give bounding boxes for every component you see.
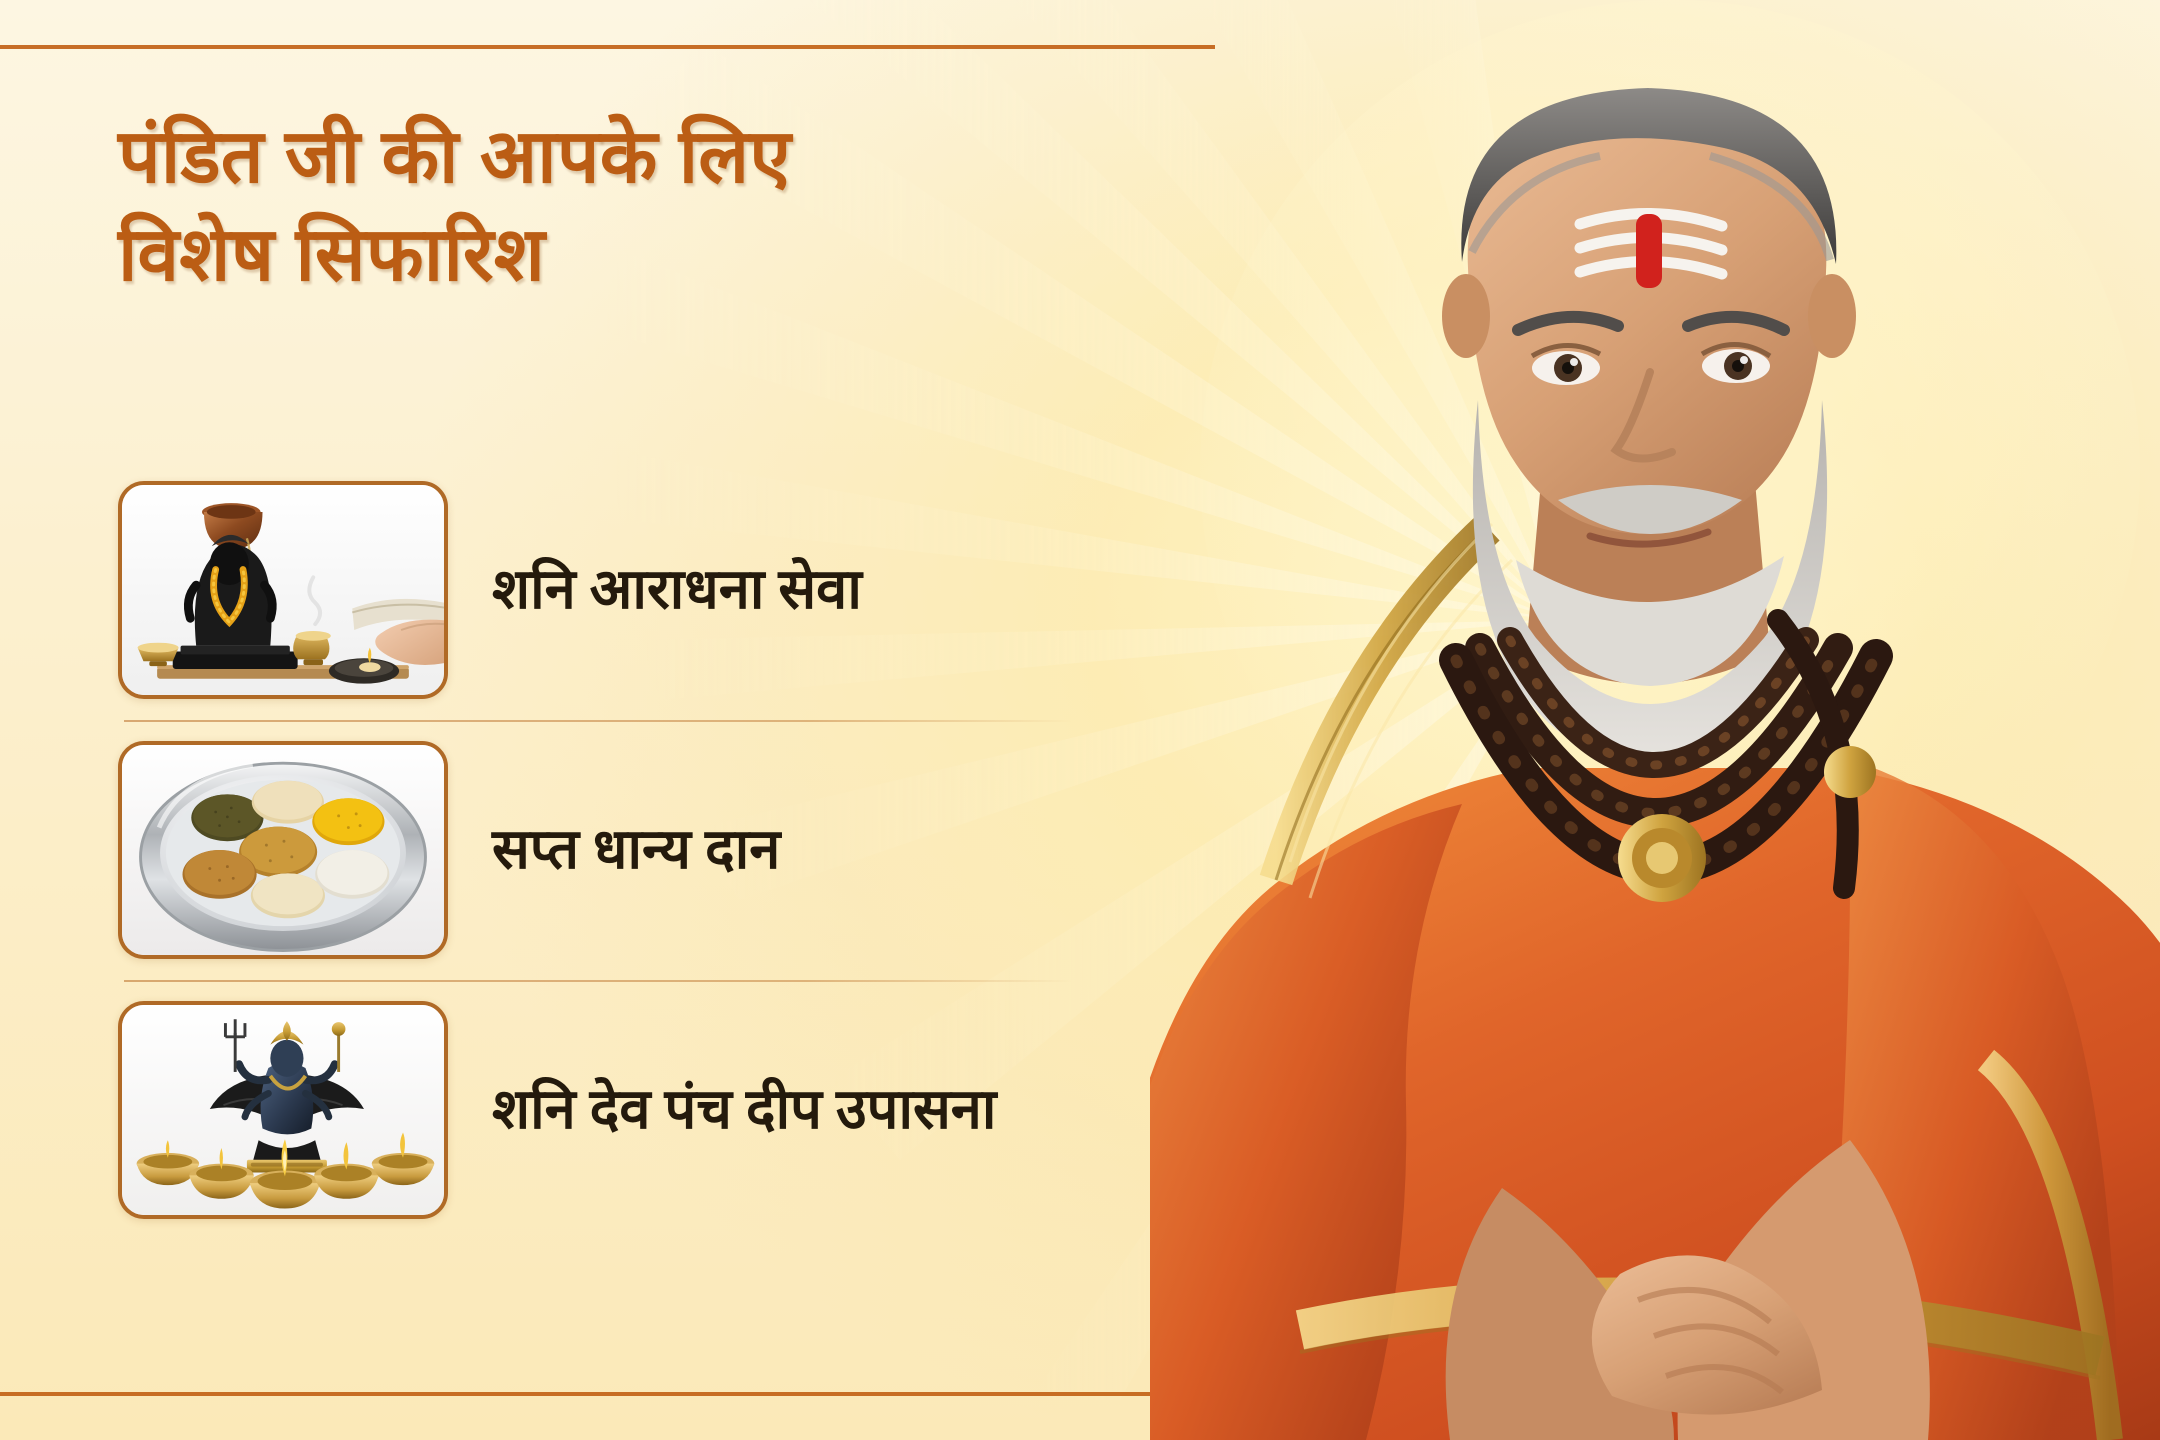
list-item[interactable]: शनि देव पंच दीप उपासना [118, 980, 1193, 1240]
page-title-line-2: विशेष सिफारिश [118, 206, 1178, 304]
list-item[interactable]: शनि आराधना सेवा [118, 460, 1193, 720]
shani-abhishek-photo [118, 481, 448, 699]
page-title: पंडित जी की आपके लिए विशेष सिफारिश [118, 108, 1178, 303]
service-label: सप्त धान्य दान [492, 818, 780, 882]
service-list: शनि आराधना सेवा [118, 460, 1193, 1240]
list-item[interactable]: सप्त धान्य दान [118, 720, 1193, 980]
shani-dev-panch-deep-photo [118, 1001, 448, 1219]
recommendation-banner: पंडित जी की आपके लिए विशेष सिफारिश [0, 0, 2160, 1440]
service-label: शनि देव पंच दीप उपासना [492, 1078, 996, 1142]
divider-top [0, 45, 1215, 49]
pandit-ji-portrait [1150, 0, 2160, 1440]
divider-bottom [0, 1392, 1215, 1396]
page-title-line-1: पंडित जी की आपके लिए [118, 108, 1178, 206]
service-label: शनि आराधना सेवा [492, 558, 862, 622]
sapta-dhanya-thali-photo [118, 741, 448, 959]
